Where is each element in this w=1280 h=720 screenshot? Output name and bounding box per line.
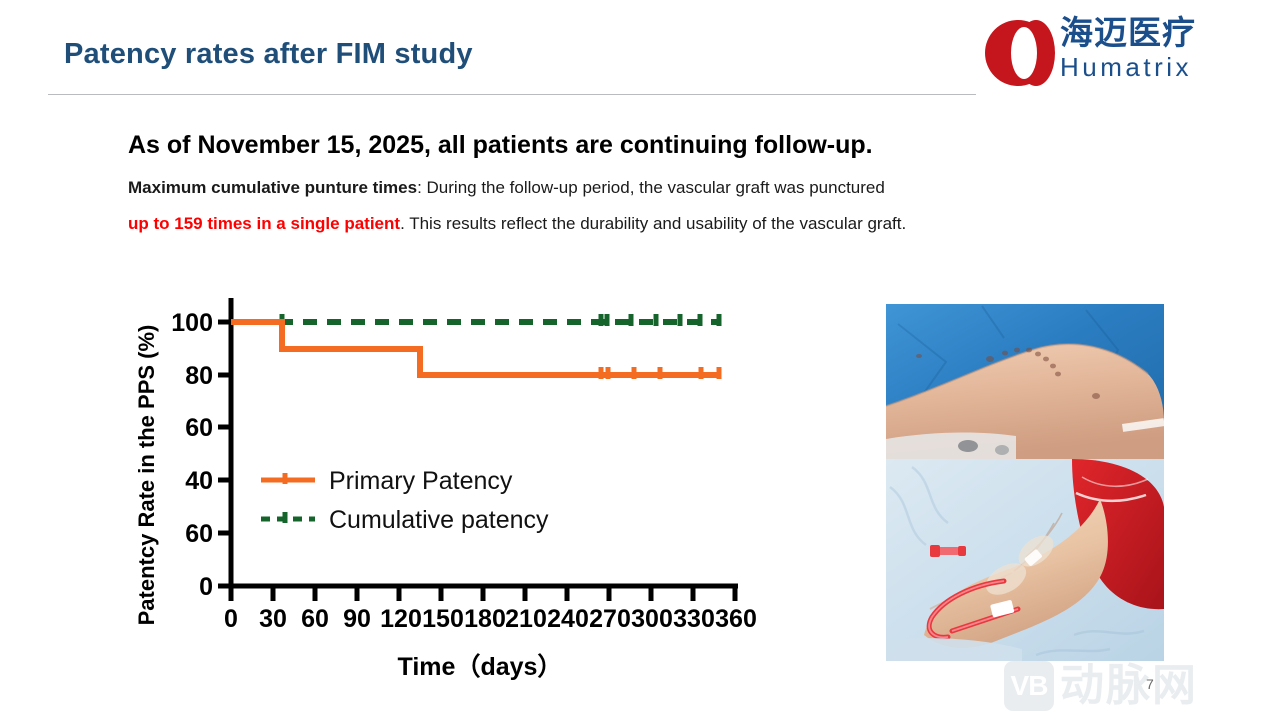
page-number: 7	[1146, 676, 1154, 692]
logo-chinese-name: 海迈医疗	[1060, 14, 1256, 52]
forearm-with-dialysis-needles-photo	[886, 459, 1164, 661]
chart-y-axis-label: Patentcy Rate in the PPS (%)	[134, 325, 159, 626]
chart-y-tick-labels: 100 80 60 40 60 0	[171, 309, 213, 601]
svg-text:60: 60	[301, 605, 329, 633]
chart-x-axis-label: Time（days）	[398, 652, 563, 681]
page-title: Patency rates after FIM study	[64, 38, 473, 71]
chart-legend: Primary Patency Cumulative patency	[261, 467, 549, 534]
paragraph-two: up to 159 times in a single patient. Thi…	[128, 214, 906, 234]
company-logo: 海迈医疗 Humatrix	[984, 12, 1256, 94]
svg-text:180: 180	[464, 605, 506, 633]
svg-text:270: 270	[589, 605, 631, 633]
svg-text:300: 300	[631, 605, 673, 633]
watermark-mark: VB	[1004, 661, 1054, 711]
svg-text:100: 100	[171, 309, 213, 337]
svg-text:30: 30	[259, 605, 287, 633]
forearm-with-puncture-sites-photo	[886, 304, 1164, 459]
paragraph-one: Maximum cumulative punture times: During…	[128, 178, 885, 198]
svg-text:0: 0	[199, 573, 213, 601]
svg-text:90: 90	[343, 605, 371, 633]
paragraph-one-bold-lead: Maximum cumulative punture times	[128, 178, 417, 197]
series-cumulative-patency	[231, 314, 721, 326]
kaplan-meier-patency-chart: Patentcy Rate in the PPS (%) 100 80 60 4…	[130, 270, 790, 690]
svg-text:150: 150	[422, 605, 464, 633]
logo-english-name: Humatrix	[1060, 52, 1256, 82]
title-divider	[48, 94, 976, 95]
chart-svg: Patentcy Rate in the PPS (%) 100 80 60 4…	[130, 270, 790, 690]
svg-text:210: 210	[505, 605, 547, 633]
svg-text:60: 60	[185, 520, 213, 548]
site-watermark: VB 动脉网	[1004, 659, 1272, 715]
legend-label-cumulative-patency: Cumulative patency	[329, 506, 549, 534]
legend-label-primary-patency: Primary Patency	[329, 467, 513, 495]
headline-statement: As of November 15, 2025, all patients ar…	[128, 131, 873, 160]
legend-entry-primary-patency: Primary Patency	[261, 467, 513, 495]
humatrix-circle-logo-icon	[984, 16, 1058, 90]
paragraph-two-text: . This results reflect the durability an…	[400, 214, 906, 233]
svg-text:40: 40	[185, 467, 213, 495]
svg-text:120: 120	[380, 605, 422, 633]
paragraph-two-highlight: up to 159 times in a single patient	[128, 214, 400, 233]
svg-text:0: 0	[224, 605, 238, 633]
svg-text:360: 360	[715, 605, 757, 633]
svg-text:60: 60	[185, 414, 213, 442]
series-primary-patency	[231, 322, 721, 379]
slide-root: Patency rates after FIM study 海迈医疗 Humat…	[0, 0, 1280, 720]
legend-entry-cumulative-patency: Cumulative patency	[261, 506, 549, 534]
paragraph-one-text: : During the follow-up period, the vascu…	[417, 178, 885, 197]
watermark-text: 动脉网	[1060, 659, 1198, 713]
svg-text:80: 80	[185, 362, 213, 390]
logo-wordmark: 海迈医疗 Humatrix	[1060, 14, 1256, 82]
svg-text:330: 330	[673, 605, 715, 633]
svg-text:240: 240	[547, 605, 589, 633]
chart-x-tick-labels: 0 30 60 90 120 150 180 210 240 270 300 3…	[224, 605, 757, 633]
